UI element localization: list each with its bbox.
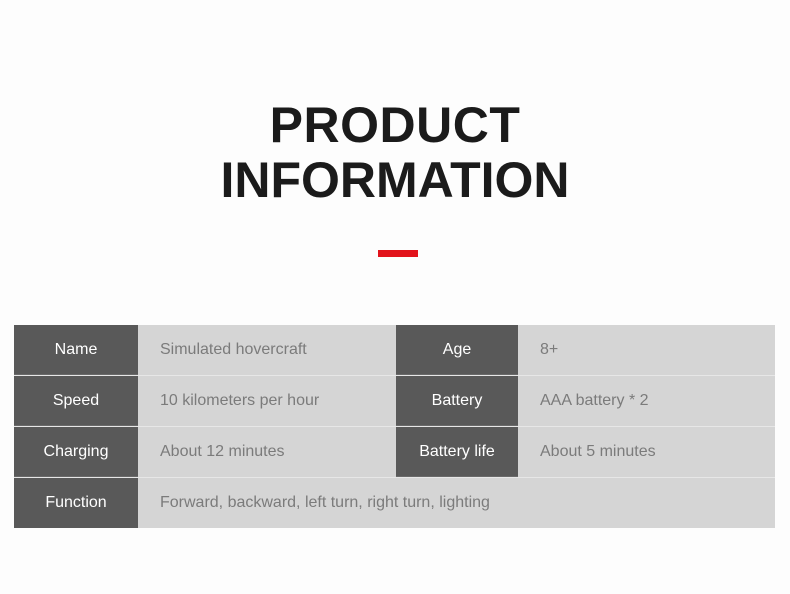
title-accent-rule bbox=[378, 250, 418, 257]
spec-value-charging: About 12 minutes bbox=[138, 427, 396, 477]
table-row: Speed 10 kilometers per hour Battery AAA… bbox=[14, 376, 775, 427]
product-spec-table: Name Simulated hovercraft Age 8+ Speed 1… bbox=[14, 325, 775, 528]
spec-label-battery-life: Battery life bbox=[396, 427, 518, 477]
spec-label-speed: Speed bbox=[14, 376, 138, 426]
spec-value-age: 8+ bbox=[518, 325, 775, 375]
spec-value-battery: AAA battery * 2 bbox=[518, 376, 775, 426]
table-row: Function Forward, backward, left turn, r… bbox=[14, 478, 775, 528]
page-title-line-1: PRODUCT bbox=[0, 98, 790, 153]
spec-value-name: Simulated hovercraft bbox=[138, 325, 396, 375]
page-title: PRODUCT INFORMATION bbox=[0, 98, 790, 208]
spec-label-name: Name bbox=[14, 325, 138, 375]
spec-label-function: Function bbox=[14, 478, 138, 528]
spec-label-charging: Charging bbox=[14, 427, 138, 477]
table-row: Name Simulated hovercraft Age 8+ bbox=[14, 325, 775, 376]
spec-label-battery: Battery bbox=[396, 376, 518, 426]
spec-value-function: Forward, backward, left turn, right turn… bbox=[138, 478, 775, 528]
spec-value-speed: 10 kilometers per hour bbox=[138, 376, 396, 426]
table-row: Charging About 12 minutes Battery life A… bbox=[14, 427, 775, 478]
page-title-line-2: INFORMATION bbox=[0, 153, 790, 208]
spec-value-battery-life: About 5 minutes bbox=[518, 427, 775, 477]
spec-label-age: Age bbox=[396, 325, 518, 375]
